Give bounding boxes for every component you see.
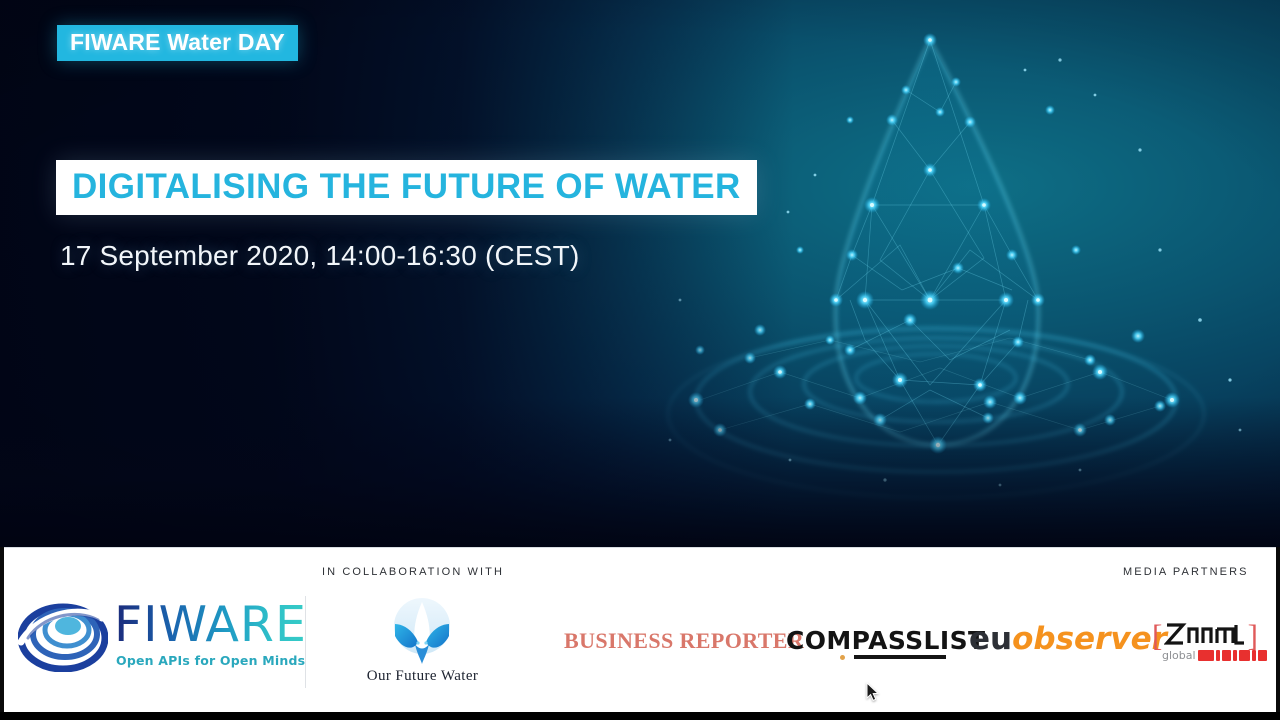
mouse-pointer-icon (866, 682, 880, 702)
znnml-logo[interactable]: [ ] global (1152, 618, 1258, 668)
znnml-sub: global (1162, 649, 1267, 662)
znnml-chip (1222, 650, 1231, 661)
bracket-left-icon: [ (1152, 620, 1162, 651)
page-title: DIGITALISING THE FUTURE OF WATER (72, 169, 741, 205)
fiware-wordmark: FIWARE (114, 600, 307, 649)
collaboration-kicker: IN COLLABORATION WITH (322, 566, 504, 578)
compasslist-wordmark: COMPASSLIST (786, 626, 985, 655)
znnml-chip (1198, 650, 1214, 661)
bracket-right-icon: ] (1248, 620, 1258, 651)
event-datetime: 17 September 2020, 14:00-16:30 (CEST) (60, 240, 579, 272)
znnml-sub-label: global (1162, 650, 1196, 661)
footer-top-edge (0, 547, 1280, 548)
water-droplet-icon (355, 596, 490, 666)
video-frame: FIWARE Water DAY DIGITALISING THE FUTURE… (0, 0, 1280, 720)
euobserver-logo[interactable]: euobserver (969, 624, 1167, 655)
znnml-chip (1216, 650, 1220, 661)
compasslist-dot (840, 655, 845, 660)
euobserver-wordmark-eu: eu (969, 621, 1012, 657)
our-future-water-wordmark: Our Future Water (355, 668, 490, 685)
znnml-chip (1239, 650, 1250, 661)
fiware-logo[interactable]: FIWARE Open APIs for Open Minds (18, 598, 290, 676)
fiware-tagline: Open APIs for Open Minds (116, 653, 305, 668)
left-border-strip (0, 547, 4, 720)
znnml-chip (1233, 650, 1237, 661)
hero-banner: FIWARE Water DAY DIGITALISING THE FUTURE… (0, 0, 1280, 547)
znnml-chip (1252, 650, 1256, 661)
fiware-swirl-icon (18, 598, 108, 672)
business-reporter-logo[interactable]: BUSINESS REPORTER (564, 628, 804, 654)
euobserver-wordmark-observer: observer (1012, 621, 1167, 657)
our-future-water-logo[interactable]: Our Future Water (355, 596, 490, 690)
compasslist-logo[interactable]: COMPASSLIST (786, 626, 948, 662)
bottom-border-strip (0, 712, 1280, 720)
compasslist-rule (854, 655, 946, 659)
znnml-mark-icon (1164, 622, 1246, 646)
title-band: DIGITALISING THE FUTURE OF WATER (56, 160, 757, 215)
event-badge-label: FIWARE Water DAY (70, 31, 285, 54)
hero-left-shade (0, 0, 794, 547)
znnml-chip (1258, 650, 1267, 661)
media-partners-kicker: MEDIA PARTNERS (1123, 566, 1249, 578)
right-border-strip (1276, 547, 1280, 720)
event-badge: FIWARE Water DAY (57, 25, 298, 61)
